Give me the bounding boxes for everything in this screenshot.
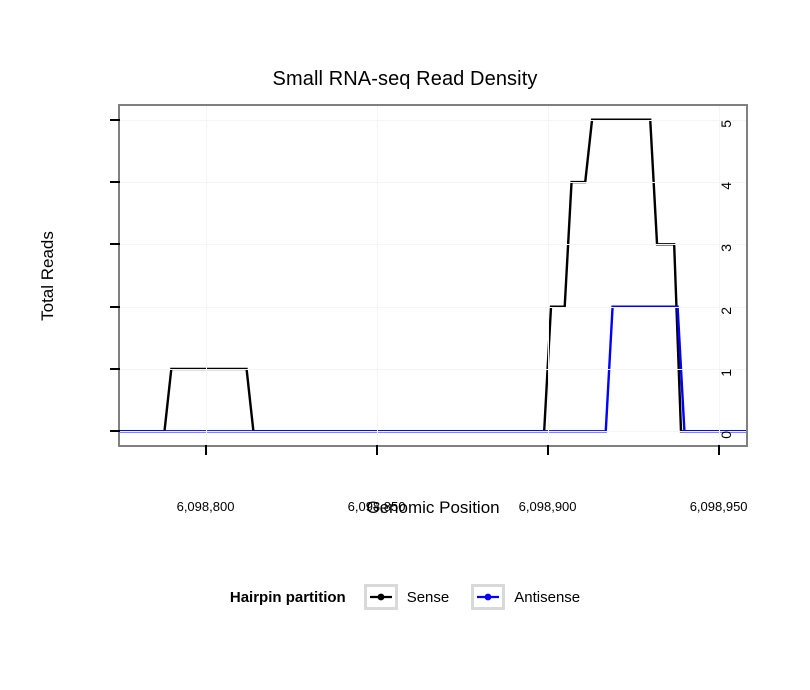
plot-area: 0123456,098,8006,098,8506,098,9006,098,9…: [120, 106, 746, 445]
gridline-vertical: [377, 106, 378, 445]
legend-entry-sense[interactable]: Sense: [364, 584, 450, 610]
legend-marker-icon: [369, 590, 393, 604]
y-axis-tick: [110, 368, 120, 370]
chart-legend: Hairpin partition SenseAntisense: [0, 584, 810, 610]
y-axis-label-text: Total Reads: [38, 231, 58, 321]
y-axis-tick: [110, 119, 120, 121]
series-line-sense: [120, 120, 746, 432]
y-axis-tick: [110, 306, 120, 308]
x-axis-tick: [376, 445, 378, 455]
gridline-vertical: [548, 106, 549, 445]
y-axis-label: Total Reads: [36, 104, 60, 447]
y-axis-tick-label: 1: [718, 369, 734, 377]
gridline-horizontal: [120, 307, 746, 308]
gridline-horizontal: [120, 431, 746, 432]
legend-entries: SenseAntisense: [364, 584, 580, 610]
y-axis-tick: [110, 430, 120, 432]
gridline-horizontal: [120, 369, 746, 370]
chart-container: Small RNA-seq Read Density Total Reads 0…: [0, 0, 810, 690]
legend-key-swatch: [471, 584, 505, 610]
y-axis-tick-label: 0: [718, 431, 734, 439]
x-axis-tick: [547, 445, 549, 455]
legend-marker-icon: [476, 590, 500, 604]
gridline-vertical: [206, 106, 207, 445]
legend-entry-antisense[interactable]: Antisense: [471, 584, 580, 610]
gridline-horizontal: [120, 182, 746, 183]
x-axis-label: Genomic Position: [118, 498, 748, 518]
legend-label: Sense: [407, 589, 450, 606]
y-axis-tick-label: 5: [718, 120, 734, 128]
legend-label: Antisense: [514, 589, 580, 606]
plot-panel: 0123456,098,8006,098,8506,098,9006,098,9…: [118, 104, 748, 447]
y-axis-tick: [110, 181, 120, 183]
y-axis-tick-label: 4: [718, 182, 734, 190]
x-axis-tick: [205, 445, 207, 455]
x-axis-tick: [718, 445, 720, 455]
series-svg: [120, 106, 746, 445]
chart-title: Small RNA-seq Read Density: [0, 68, 810, 91]
gridline-horizontal: [120, 120, 746, 121]
legend-key-swatch: [364, 584, 398, 610]
y-axis-tick: [110, 243, 120, 245]
gridline-horizontal: [120, 244, 746, 245]
y-axis-tick-label: 3: [718, 244, 734, 252]
y-axis-tick-label: 2: [718, 307, 734, 315]
gridline-vertical: [719, 106, 720, 445]
legend-title: Hairpin partition: [230, 589, 346, 606]
